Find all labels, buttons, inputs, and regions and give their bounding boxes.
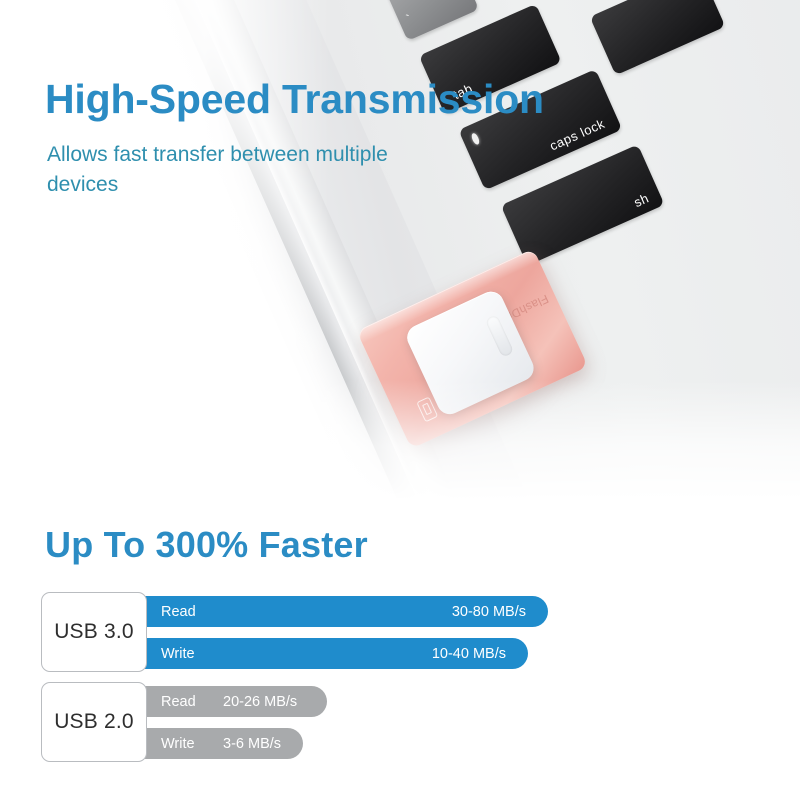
bar-usb30-read: Read 30-80 MB/s — [145, 596, 548, 627]
group-label-usb30: USB 3.0 — [41, 592, 147, 672]
group-label-usb30-text: USB 3.0 — [54, 620, 134, 644]
group-label-usb20-text: USB 2.0 — [54, 710, 134, 734]
bar-usb20-write: Write 3-6 MB/s — [145, 728, 303, 759]
bar-usb20-write-label: Write — [161, 736, 195, 752]
bar-usb30-read-label: Read — [161, 604, 196, 620]
bar-usb30-write-value: 10-40 MB/s — [432, 646, 506, 662]
bar-usb30-write: Write 10-40 MB/s — [145, 638, 528, 669]
bar-usb20-read-value: 20-26 MB/s — [223, 694, 297, 710]
bar-usb20-read-label: Read — [161, 694, 196, 710]
bar-usb20-write-value: 3-6 MB/s — [223, 736, 281, 752]
bar-usb30-read-value: 30-80 MB/s — [452, 604, 526, 620]
bar-usb30-write-label: Write — [161, 646, 195, 662]
bar-usb20-read: Read 20-26 MB/s — [145, 686, 327, 717]
product-marketing-image: esc ~ ` ! — [0, 0, 800, 800]
group-label-usb20: USB 2.0 — [41, 682, 147, 762]
speed-comparison-chart: USB 3.0 Read 30-80 MB/s Write 10-40 MB/s… — [0, 0, 800, 800]
